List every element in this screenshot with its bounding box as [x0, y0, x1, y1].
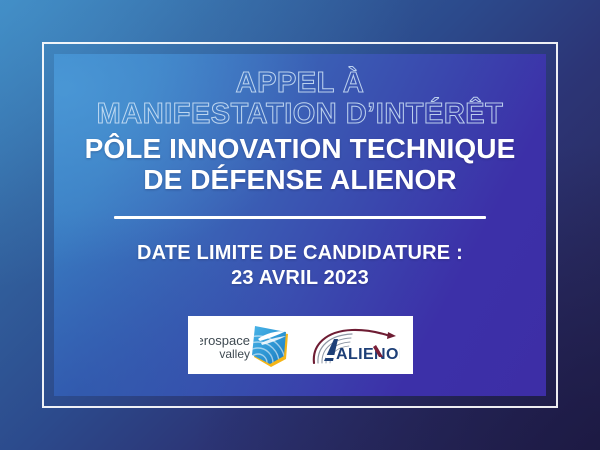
page-title-line-1: PÔLE INNOVATION TECHNIQUE [54, 133, 546, 164]
alienor-mark: ALIENOR [304, 323, 400, 367]
outline-heading-line-1: APPEL À [54, 69, 546, 98]
aerospace-valley-mark: aerospace valley [200, 323, 292, 367]
logo-strip: aerospace valley [188, 316, 413, 374]
deadline-date: 23 AVRIL 2023 [54, 266, 546, 291]
poster-canvas: APPEL À MANIFESTATION D’INTÉRÊT PÔLE INN… [0, 0, 600, 450]
aerospace-valley-word-2: valley [219, 347, 250, 361]
page-title-line-2: DE DÉFENSE ALIENOR [54, 164, 546, 195]
alienor-wordmark: ALIENOR [336, 346, 400, 363]
alienor-logo: ALIENOR [304, 323, 400, 367]
aerospace-valley-logo: aerospace valley [200, 323, 292, 367]
poster-inner-panel: APPEL À MANIFESTATION D’INTÉRÊT PÔLE INN… [54, 54, 546, 396]
horizontal-divider [114, 216, 486, 219]
outline-heading: APPEL À MANIFESTATION D’INTÉRÊT [54, 69, 546, 129]
page-title: PÔLE INNOVATION TECHNIQUE DE DÉFENSE ALI… [54, 133, 546, 196]
aerospace-valley-word-1: aerospace [200, 333, 250, 348]
deadline-label: DATE LIMITE DE CANDIDATURE : [54, 241, 546, 266]
outline-heading-line-2: MANIFESTATION D’INTÉRÊT [54, 100, 546, 129]
deadline-block: DATE LIMITE DE CANDIDATURE : 23 AVRIL 20… [54, 241, 546, 291]
